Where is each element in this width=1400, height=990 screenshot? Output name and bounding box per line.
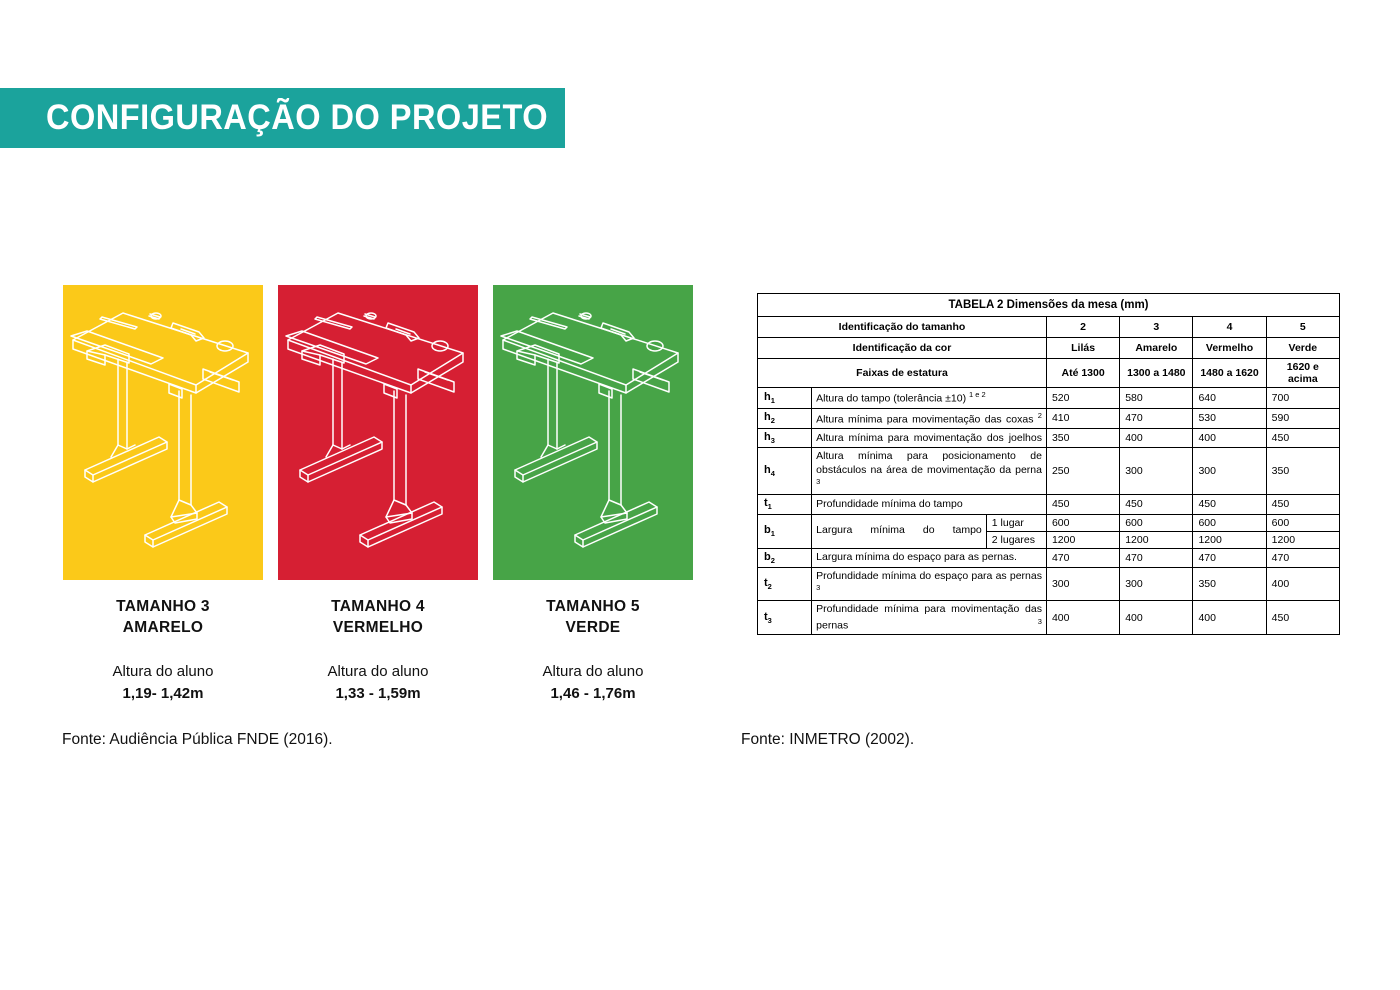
- row-value: 400: [1193, 601, 1266, 635]
- row-value: 350: [1046, 429, 1119, 448]
- row-symbol-cell: t1: [758, 495, 812, 514]
- row-symbol: h4: [764, 464, 775, 476]
- row-value: 300: [1046, 567, 1119, 601]
- row-description: Profundidade mínima do tampo: [812, 495, 1047, 514]
- height-label: Altura do aluno: [543, 663, 644, 680]
- size-card-title: TAMANHO 4 VERMELHO: [331, 597, 425, 639]
- size-card-title: TAMANHO 5 VERDE: [546, 597, 640, 639]
- table-header-row: Identificação do tamanho2345: [758, 317, 1340, 338]
- height-range: 1,46 - 1,76m: [543, 683, 644, 706]
- table-row: h3Altura mínima para movimentação dos jo…: [758, 429, 1340, 448]
- table-row: h4Altura mínima para posicionamento de o…: [758, 448, 1340, 495]
- height-label: Altura do aluno: [113, 663, 214, 680]
- row-value: 600: [1266, 514, 1339, 531]
- row-symbol: b1: [764, 524, 775, 536]
- row-symbol: t1: [764, 497, 772, 509]
- source-note-cards: Fonte: Audiência Pública FNDE (2016).: [62, 731, 333, 749]
- table-row: t2Profundidade mínima do espaço para as …: [758, 567, 1340, 601]
- row-description: Altura do tampo (tolerância ±10) 1 e 2: [812, 388, 1047, 409]
- desk-swatch-yellow: [63, 285, 263, 580]
- row-value: 470: [1120, 548, 1193, 567]
- row-symbol: t3: [764, 611, 772, 623]
- desk-swatch-green: [493, 285, 693, 580]
- row-description: Altura mínima para movimentação dos joel…: [812, 429, 1047, 448]
- row-symbol: h1: [764, 391, 775, 403]
- table-header-row: Identificação da corLilásAmareloVermelho…: [758, 338, 1340, 359]
- row-description: Largura mínima do espaço para as pernas.: [812, 548, 1047, 567]
- footnote-marker: 3: [1038, 617, 1042, 626]
- row-value: 400: [1120, 429, 1193, 448]
- row-value: 450: [1046, 495, 1119, 514]
- row-value: 450: [1266, 495, 1339, 514]
- row-value: 450: [1193, 495, 1266, 514]
- footnote-marker: 1 e 2: [969, 390, 986, 399]
- table-title-row: TABELA 2 Dimensões da mesa (mm): [758, 294, 1340, 317]
- row-value: 450: [1266, 601, 1339, 635]
- header-row-value: 3: [1120, 317, 1193, 338]
- row-value: 400: [1193, 429, 1266, 448]
- header-row-label: Identificação do tamanho: [758, 317, 1047, 338]
- size-card-height-info: Altura do aluno 1,33 - 1,59m: [328, 661, 429, 706]
- row-description: Altura mínima para posicionamento de obs…: [812, 448, 1047, 495]
- table-row: t3Profundidade mínima para movimentação …: [758, 601, 1340, 635]
- size-card-tamanho-5: TAMANHO 5 VERDE Altura do aluno 1,46 - 1…: [493, 285, 693, 706]
- row-value: 470: [1046, 548, 1119, 567]
- row-value: 450: [1266, 429, 1339, 448]
- row-symbol: h3: [764, 431, 775, 443]
- row-symbol-cell: b2: [758, 548, 812, 567]
- table-row: b1Largura mínima do tampo1 lugar60060060…: [758, 514, 1340, 531]
- row-value: 600: [1120, 514, 1193, 531]
- row-value: 700: [1266, 388, 1339, 409]
- row-value: 300: [1120, 567, 1193, 601]
- row-value: 640: [1193, 388, 1266, 409]
- row-value: 1200: [1193, 531, 1266, 548]
- row-symbol-cell: h3: [758, 429, 812, 448]
- row-symbol: b2: [764, 551, 775, 563]
- row-value: 590: [1266, 408, 1339, 429]
- header-row-value: 1480 a 1620: [1193, 359, 1266, 388]
- header-row-label: Identificação da cor: [758, 338, 1047, 359]
- row-value: 470: [1266, 548, 1339, 567]
- row-value: 400: [1266, 567, 1339, 601]
- desk-swatch-red: [278, 285, 478, 580]
- dimensions-table-container: TABELA 2 Dimensões da mesa (mm)Identific…: [757, 293, 1340, 635]
- row-value: 530: [1193, 408, 1266, 429]
- size-card-height-info: Altura do aluno 1,46 - 1,76m: [543, 661, 644, 706]
- row-symbol: h2: [764, 411, 775, 423]
- row-value: 1200: [1120, 531, 1193, 548]
- table-row: h2Altura mínima para movimentação das co…: [758, 408, 1340, 429]
- row-value: 520: [1046, 388, 1119, 409]
- header-row-label: Faixas de estatura: [758, 359, 1047, 388]
- row-symbol-cell: t2: [758, 567, 812, 601]
- table-row: b2Largura mínima do espaço para as perna…: [758, 548, 1340, 567]
- row-description: Largura mínima do tampo: [812, 514, 987, 548]
- row-value: 1200: [1046, 531, 1119, 548]
- row-subrow-label: 1 lugar: [986, 514, 1046, 531]
- size-card-title: TAMANHO 3 AMARELO: [116, 597, 210, 639]
- row-value: 600: [1193, 514, 1266, 531]
- height-range: 1,19- 1,42m: [113, 683, 214, 706]
- height-label: Altura do aluno: [328, 663, 429, 680]
- table-header-row: Faixas de estaturaAté 13001300 a 1480148…: [758, 359, 1340, 388]
- header-row-value: 4: [1193, 317, 1266, 338]
- row-value: 350: [1266, 448, 1339, 495]
- footnote-marker: 3: [816, 583, 820, 592]
- header-row-value: Verde: [1266, 338, 1339, 359]
- header-row-value: 1300 a 1480: [1120, 359, 1193, 388]
- header-row-value: Até 1300: [1046, 359, 1119, 388]
- row-value: 250: [1046, 448, 1119, 495]
- header-row-value: Vermelho: [1193, 338, 1266, 359]
- table-row: t1Profundidade mínima do tampo4504504504…: [758, 495, 1340, 514]
- row-value: 400: [1120, 601, 1193, 635]
- row-description: Profundidade mínima para movimentação da…: [812, 601, 1047, 635]
- size-card-height-info: Altura do aluno 1,19- 1,42m: [113, 661, 214, 706]
- header-row-value: 2: [1046, 317, 1119, 338]
- table-row: h1Altura do tampo (tolerância ±10) 1 e 2…: [758, 388, 1340, 409]
- row-value: 350: [1193, 567, 1266, 601]
- row-value: 600: [1046, 514, 1119, 531]
- row-subrow-label: 2 lugares: [986, 531, 1046, 548]
- size-card-tamanho-4: TAMANHO 4 VERMELHO Altura do aluno 1,33 …: [278, 285, 478, 706]
- row-symbol: t2: [764, 577, 772, 589]
- page-title: CONFIGURAÇÃO DO PROJETO: [46, 98, 548, 138]
- row-value: 1200: [1266, 531, 1339, 548]
- header-row-value: 5: [1266, 317, 1339, 338]
- table-title: TABELA 2 Dimensões da mesa (mm): [758, 294, 1340, 317]
- header-row-value: Amarelo: [1120, 338, 1193, 359]
- size-cards-group: TAMANHO 3 AMARELO Altura do aluno 1,19- …: [63, 285, 713, 705]
- row-symbol-cell: h1: [758, 388, 812, 409]
- row-symbol-cell: b1: [758, 514, 812, 548]
- row-value: 300: [1193, 448, 1266, 495]
- row-value: 300: [1120, 448, 1193, 495]
- height-range: 1,33 - 1,59m: [328, 683, 429, 706]
- row-value: 470: [1193, 548, 1266, 567]
- source-note-table: Fonte: INMETRO (2002).: [741, 731, 914, 749]
- row-symbol-cell: t3: [758, 601, 812, 635]
- row-symbol-cell: h2: [758, 408, 812, 429]
- row-value: 450: [1120, 495, 1193, 514]
- footnote-marker: 2: [1038, 411, 1042, 420]
- header-row-value: 1620 e acima: [1266, 359, 1339, 388]
- dimensions-table: TABELA 2 Dimensões da mesa (mm)Identific…: [757, 293, 1340, 635]
- row-description: Profundidade mínima do espaço para as pe…: [812, 567, 1047, 601]
- row-symbol-cell: h4: [758, 448, 812, 495]
- row-description: Altura mínima para movimentação das coxa…: [812, 408, 1047, 429]
- footnote-marker: 3: [816, 477, 820, 486]
- size-card-tamanho-3: TAMANHO 3 AMARELO Altura do aluno 1,19- …: [63, 285, 263, 706]
- page-title-banner: CONFIGURAÇÃO DO PROJETO: [0, 88, 565, 148]
- row-value: 410: [1046, 408, 1119, 429]
- row-value: 400: [1046, 601, 1119, 635]
- header-row-value: Lilás: [1046, 338, 1119, 359]
- row-value: 580: [1120, 388, 1193, 409]
- row-value: 470: [1120, 408, 1193, 429]
